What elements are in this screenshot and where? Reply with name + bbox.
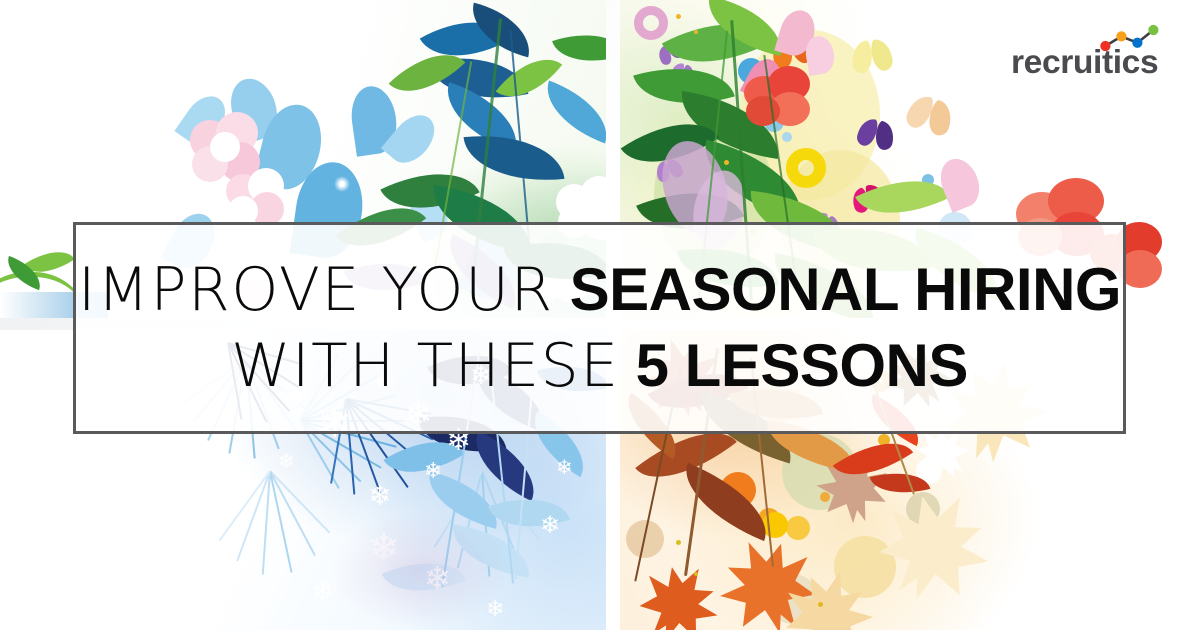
butterfly-icon: [850, 38, 893, 74]
speck-dot: [676, 14, 681, 19]
headline-box: IMPROVE YOURSEASONAL HIRING WITH THESE5 …: [73, 222, 1126, 434]
pink-ring-icon: [634, 6, 668, 40]
headline-line-1: IMPROVE YOURSEASONAL HIRING: [78, 259, 1121, 321]
speck-dot: [694, 572, 698, 576]
snowflake-icon: ❄: [424, 460, 442, 482]
headline-line1-light: IMPROVE YOUR: [78, 255, 554, 325]
headline-line1-bold: SEASONAL HIRING: [570, 256, 1121, 323]
speck-dot: [724, 160, 729, 165]
snowflake-icon: ❄: [368, 482, 391, 510]
sparkle-icon: [334, 176, 350, 192]
headline-line2-bold: 5 LESSONS: [636, 332, 968, 399]
seasonal-hiring-banner: ❄ ❄ ❄ ❄ ❄ ❄ ❄ ❄ ❄ ❄ ❄ ❄ ❄: [0, 0, 1200, 630]
recruitics-logo[interactable]: recruitics: [1010, 22, 1172, 86]
snowflake-icon: ❄: [278, 452, 295, 472]
snowflake-icon: ❄: [540, 514, 560, 538]
blue-dot: [782, 132, 792, 142]
speck-dot: [818, 602, 823, 607]
headline-line-2: WITH THESE5 LESSONS: [231, 335, 968, 397]
headline-line2-light: WITH THESE: [231, 331, 620, 401]
frost-wash: [330, 510, 510, 630]
cherry-blossom-icon: [226, 168, 286, 228]
speck-dot: [676, 540, 681, 545]
snowflake-icon: ❄: [556, 458, 573, 478]
poppy-icon: [744, 66, 814, 130]
yellow-ring-icon: [786, 148, 826, 188]
svg-text:recruitics: recruitics: [1011, 44, 1158, 81]
speck-dot: [694, 30, 698, 34]
